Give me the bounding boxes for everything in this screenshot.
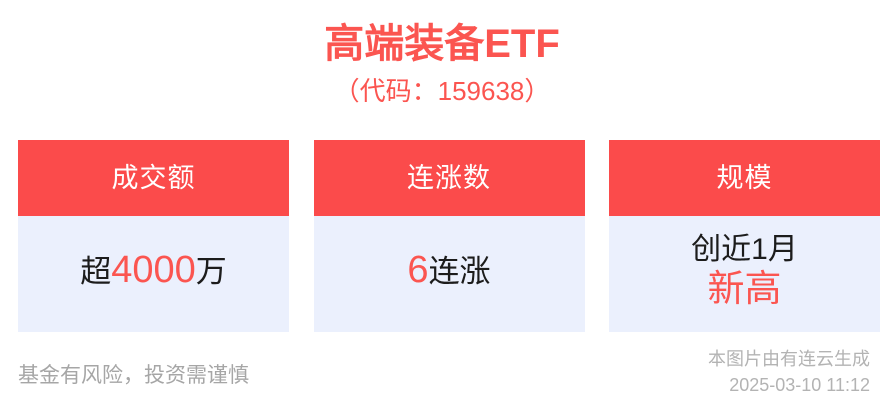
stat-card-scale: 规模 创近1月 新高 (609, 140, 880, 332)
scale-value-line-top: 创近1月 (691, 232, 798, 268)
stat-card-turnover: 成交额 超 4000 万 (18, 140, 289, 332)
turnover-value-suffix: 万 (196, 252, 227, 292)
streak-value-suffix: 连涨 (429, 252, 491, 292)
stat-card-group: 成交额 超 4000 万 连涨数 6 连涨 (18, 140, 880, 332)
title-block: 高端装备ETF （代码：159638） (0, 18, 884, 108)
stat-card-streak: 连涨数 6 连涨 (314, 140, 585, 332)
scale-value-line-bottom: 新高 (708, 268, 782, 310)
fund-code-subtitle: （代码：159638） (0, 74, 884, 108)
stat-card-scale-title: 规模 (717, 161, 773, 195)
stat-card-turnover-header: 成交额 (18, 140, 289, 216)
turnover-value-number: 4000 (111, 250, 196, 290)
stat-card-turnover-title: 成交额 (112, 161, 196, 195)
stat-card-streak-header: 连涨数 (314, 140, 585, 216)
page-title: 高端装备ETF (0, 18, 884, 70)
stat-card-streak-title: 连涨数 (407, 161, 491, 195)
stat-card-scale-header: 规模 (609, 140, 880, 216)
generation-credit: 本图片由有连云生成 2025-03-10 11:12 (708, 346, 870, 398)
turnover-value-prefix: 超 (80, 252, 111, 292)
stat-card-turnover-body: 超 4000 万 (18, 216, 289, 332)
stat-card-streak-body: 6 连涨 (314, 216, 585, 332)
generation-source-label: 本图片由有连云生成 (708, 346, 870, 372)
generation-timestamp: 2025-03-10 11:12 (708, 372, 870, 398)
stat-card-turnover-value: 超 4000 万 (80, 250, 227, 292)
risk-disclaimer: 基金有风险，投资需谨慎 (18, 362, 249, 390)
etf-info-poster: 高端装备ETF （代码：159638） 成交额 超 4000 万 连涨数 (0, 0, 884, 404)
stat-card-scale-value: 创近1月 新高 (691, 232, 798, 310)
stat-card-streak-value: 6 连涨 (407, 250, 490, 292)
stat-card-scale-body: 创近1月 新高 (609, 216, 880, 332)
streak-value-number: 6 (407, 250, 428, 290)
